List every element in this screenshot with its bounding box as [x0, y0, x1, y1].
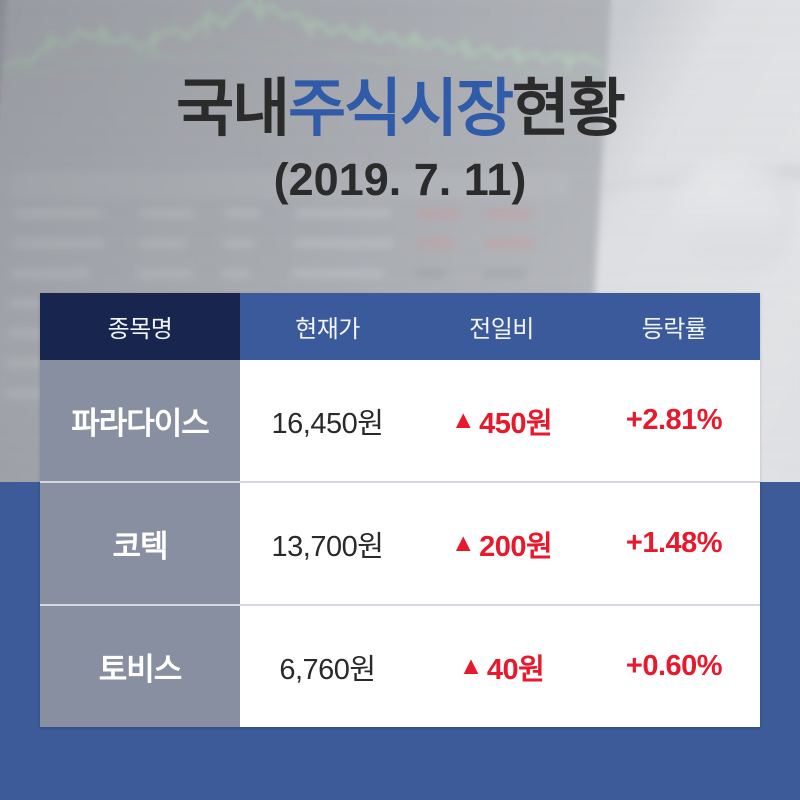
page-title-part2: 현황	[512, 74, 624, 144]
stock-price: 16,450원	[240, 360, 415, 481]
table-body: 파라다이스 16,450원 ▲450원 +2.81% 코텍 13,700원 ▲2…	[40, 360, 760, 727]
stock-name: 토비스	[40, 606, 240, 727]
table-row[interactable]: 토비스 6,760원 ▲40원 +0.60%	[40, 606, 760, 727]
column-header-change[interactable]: 전일비	[415, 293, 588, 360]
stock-name: 파라다이스	[40, 360, 240, 481]
table-row[interactable]: 파라다이스 16,450원 ▲450원 +2.81%	[40, 360, 760, 483]
column-header-rate[interactable]: 등락률	[588, 293, 760, 360]
page-title-accent: 주식시장	[288, 74, 512, 144]
stock-rate: +2.81%	[588, 360, 760, 481]
triangle-up-icon: ▲	[451, 408, 475, 433]
page-title-part1: 국내	[176, 74, 288, 144]
triangle-up-icon: ▲	[451, 531, 475, 556]
stock-change-value: 40원	[487, 646, 544, 688]
table-row[interactable]: 코텍 13,700원 ▲200원 +1.48%	[40, 483, 760, 606]
page-date: (2019. 7. 11)	[0, 157, 800, 202]
stock-rate: +0.60%	[588, 606, 760, 727]
triangle-up-icon: ▲	[459, 654, 483, 679]
stock-change: ▲200원	[415, 483, 588, 604]
stock-name: 코텍	[40, 483, 240, 604]
stock-price: 13,700원	[240, 483, 415, 604]
stock-change: ▲450원	[415, 360, 588, 481]
stock-table: 종목명 현재가 전일비 등락률 파라다이스 16,450원 ▲450원 +2.8…	[40, 293, 760, 727]
stock-change-value: 450원	[479, 400, 552, 442]
column-header-price[interactable]: 현재가	[240, 293, 415, 360]
poster-canvas: 국내주식시장현황 (2019. 7. 11) 종목명 현재가 전일비 등락률 파…	[0, 0, 800, 800]
stock-change: ▲40원	[415, 606, 588, 727]
stock-price: 6,760원	[240, 606, 415, 727]
table-header: 종목명 현재가 전일비 등락률	[40, 293, 760, 360]
table-header-row: 종목명 현재가 전일비 등락률	[40, 293, 760, 360]
headline-block: 국내주식시장현황 (2019. 7. 11)	[0, 78, 800, 202]
column-header-name[interactable]: 종목명	[40, 293, 240, 360]
stock-change-value: 200원	[479, 523, 552, 565]
page-title: 국내주식시장현황	[0, 78, 800, 141]
stock-rate: +1.48%	[588, 483, 760, 604]
